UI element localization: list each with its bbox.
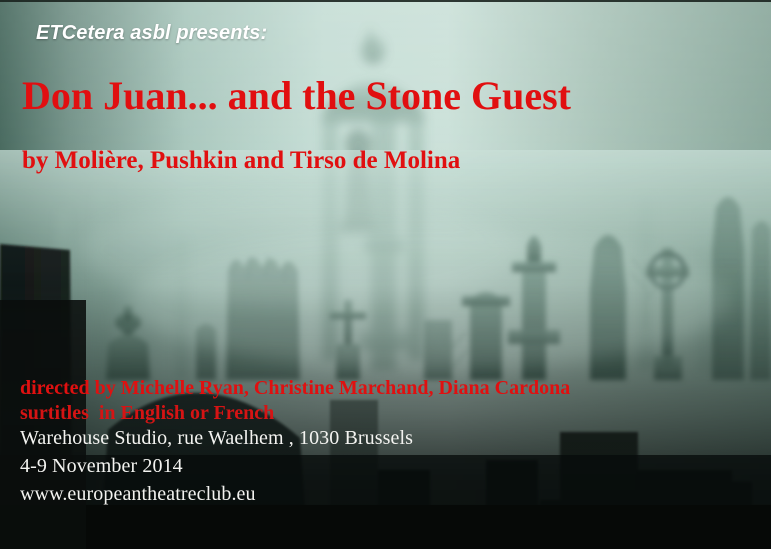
- venue-line: Warehouse Studio, rue Waelhem , 1030 Bru…: [20, 426, 760, 451]
- title-part-two: and the Stone Guest: [218, 73, 571, 118]
- page-title: Don Juan... and the Stone Guest: [22, 76, 571, 116]
- theatre-poster: ETCetera asbl presents: Don Juan... and …: [0, 0, 771, 549]
- surtitles-line: surtitles in English or French: [20, 401, 760, 426]
- title-part-one: Don Juan...: [22, 73, 218, 118]
- website-line: www.europeantheatreclub.eu: [20, 482, 760, 507]
- poster-text-layer: ETCetera asbl presents: Don Juan... and …: [0, 0, 771, 549]
- authors-byline: by Molière, Pushkin and Tirso de Molina: [22, 148, 460, 173]
- directors-line: directed by Michelle Ryan, Christine Mar…: [20, 376, 760, 401]
- presenter-line: ETCetera asbl presents:: [36, 22, 267, 45]
- dates-line: 4-9 November 2014: [20, 454, 760, 479]
- credits-block: directed by Michelle Ryan, Christine Mar…: [20, 376, 760, 507]
